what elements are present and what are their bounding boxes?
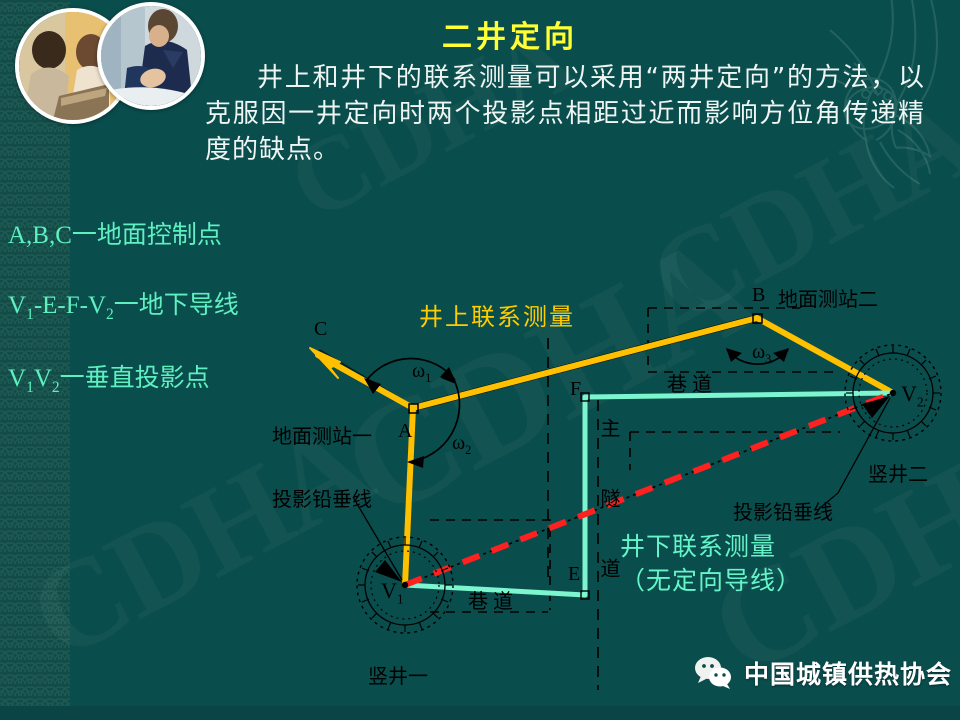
label-v2-letter: V [901,381,917,406]
omega-glyph: ω [412,360,425,382]
heading-underground-line-2: （无定向导线） [620,564,802,598]
footer-branding: 中国城镇供热协会 [694,655,952,691]
slide-canvas: CDHA CDHA CDHA CDHA CDHA [0,0,960,720]
label-point-V1: V1 [381,578,404,607]
label-point-B: B [752,284,765,307]
label-shaft-two: 竖井二 [868,458,928,487]
omega2-sub: 2 [465,443,471,457]
label-roadway-right: 巷 道 [667,368,712,397]
omega3-sub: 3 [765,352,771,366]
label-main-tunnel: 主隧道 [594,418,623,628]
label-point-F: F [570,378,581,401]
omega-glyph: ω [752,341,765,363]
label-point-E: E [568,563,580,586]
omega-glyph: ω [452,432,465,454]
label-v2-sub: 2 [917,394,924,409]
label-omega3: ω3 [752,341,771,367]
heading-underground-line-1: 井下联系测量 [620,530,802,564]
label-v1-letter: V [381,578,397,603]
label-omega2: ω2 [452,432,471,458]
label-roadway-left: 巷 道 [468,585,513,614]
label-ground-station-one: 地面测站一 [272,420,372,449]
label-point-V2: V2 [901,381,924,410]
omega1-sub: 1 [425,371,431,385]
label-v1-sub: 1 [397,591,404,606]
label-shaft-one: 竖井一 [368,660,428,689]
label-point-C: C [314,318,327,341]
label-plumb-line-right: 投影铅垂线 [733,496,833,525]
label-plumb-line-left: 投影铅垂线 [272,483,372,512]
label-ground-station-two: 地面测站二 [778,283,878,312]
footer-org-name: 中国城镇供热协会 [744,655,952,691]
label-omega1: ω1 [412,360,431,386]
label-point-A: A [398,420,412,443]
wechat-icon [694,656,734,690]
heading-surface-survey: 井上联系测量 [419,297,575,332]
heading-underground-survey: 井下联系测量 （无定向导线） [620,530,802,598]
